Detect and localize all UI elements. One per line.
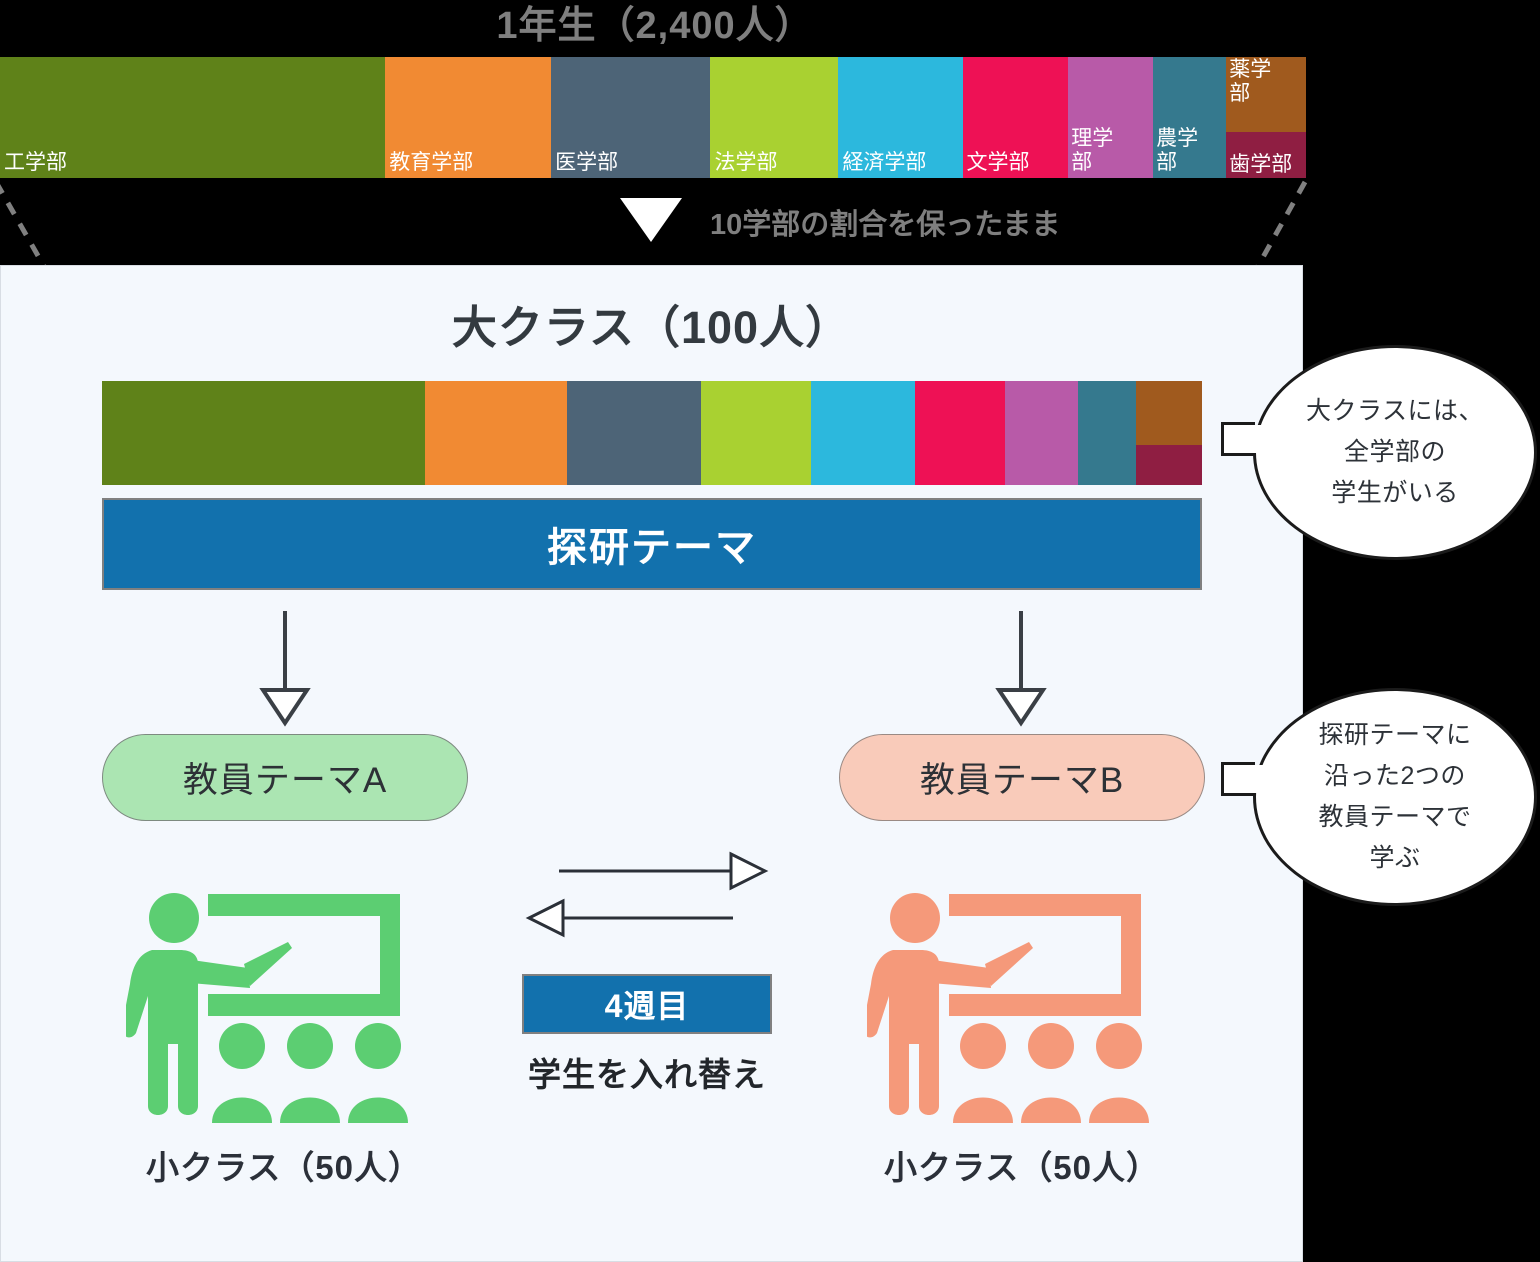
small-class-label-left: 小クラス（50人） — [99, 1141, 469, 1189]
faculty-segment-4: 法学部 — [710, 57, 838, 178]
small-class-label-right: 小クラス（50人） — [837, 1141, 1207, 1189]
mini-faculty-segment-dent — [1136, 445, 1202, 485]
callout-tail-1 — [1221, 422, 1255, 456]
week-badge: 4週目 — [522, 974, 772, 1034]
mini-faculty-segment-5 — [811, 381, 914, 485]
faculty-segment-dent: 歯学部 — [1226, 132, 1306, 178]
student-swap-arrows — [521, 846, 771, 946]
teacher-theme-a-pill[interactable]: 教員テーマA — [102, 734, 468, 821]
callout1-line1: 大クラスには、 — [1306, 391, 1484, 432]
top-title: 1年生（2,400人） — [0, 2, 1310, 50]
callout2-line2: 沿った2つの — [1318, 756, 1471, 797]
teacher-theme-b-label: 教員テーマB — [920, 752, 1124, 803]
mini-faculty-segment-1 — [102, 381, 425, 485]
faculty-segment-label: 薬学部 — [1229, 58, 1279, 106]
faculty-segment-label: 法学部 — [714, 151, 777, 175]
faculty-segment-label: 文学部 — [967, 151, 1030, 175]
diagram-canvas: 1年生（2,400人） 工学部教育学部医学部法学部経済学部文学部理学部農学部薬学… — [0, 0, 1540, 1262]
faculty-distribution-bar-full: 工学部教育学部医学部法学部経済学部文学部理学部農学部薬学部歯学部 — [0, 57, 1306, 178]
teacher-theme-b-pill[interactable]: 教員テーマB — [839, 734, 1205, 821]
callout-all-faculties-text: 大クラスには、 全学部の 学生がいる — [1306, 391, 1484, 514]
swap-students-label: 学生を入れ替え — [501, 1048, 793, 1096]
callout-all-faculties: 大クラスには、 全学部の 学生がいる — [1253, 345, 1537, 560]
faculty-segment-label: 教育学部 — [389, 151, 473, 175]
faculty-segment-label: 歯学部 — [1229, 153, 1292, 177]
panel-title: 大クラス（100人） — [1, 291, 1302, 356]
callout1-line3: 学生がいる — [1306, 473, 1484, 514]
faculty-segment-label: 医学部 — [555, 151, 618, 175]
faculty-segment-label: 経済学部 — [842, 151, 926, 175]
faculty-segment-8: 農学部 — [1153, 57, 1226, 178]
faculty-segment-2: 教育学部 — [385, 57, 551, 178]
faculty-segment-pharm: 薬学部 — [1226, 57, 1306, 132]
mini-faculty-segment-7 — [1005, 381, 1078, 485]
callout-tail-mask-1 — [1253, 425, 1269, 453]
keep-ratio-note: 10学部の割合を保ったまま — [710, 205, 1060, 245]
faculty-segment-5: 経済学部 — [838, 57, 962, 178]
faculty-segment-7: 理学部 — [1068, 57, 1153, 178]
callout2-line3: 教員テーマで — [1318, 797, 1471, 838]
callout2-line1: 探研テーマに — [1318, 715, 1471, 756]
faculty-segment-label: 工学部 — [4, 151, 67, 175]
big-class-panel: 大クラス（100人） 探研テーマ 教員テーマA 教員テーマB — [0, 265, 1303, 1262]
mini-faculty-segment-6 — [915, 381, 1005, 485]
research-theme-label: 探研テーマ — [547, 515, 757, 573]
mini-faculty-segment-8 — [1078, 381, 1136, 485]
mini-faculty-segment-pharm — [1136, 381, 1202, 445]
classroom-icon-right — [867, 876, 1187, 1126]
faculty-segment-3: 医学部 — [551, 57, 710, 178]
down-triangle-icon — [620, 198, 682, 242]
callout-tail-mask-2 — [1253, 765, 1269, 793]
research-theme-bar[interactable]: 探研テーマ — [102, 498, 1202, 590]
faculty-segment-6: 文学部 — [963, 57, 1069, 178]
mini-faculty-segment-4 — [701, 381, 811, 485]
callout-two-teacher-themes: 探研テーマに 沿った2つの 教員テーマで 学ぶ — [1253, 688, 1537, 906]
mini-faculty-segment-3 — [567, 381, 701, 485]
faculty-segment-label: 農学部 — [1156, 127, 1202, 175]
mini-faculty-segment-2 — [425, 381, 567, 485]
mini-faculty-segment-stacked — [1136, 381, 1202, 485]
callout-two-teacher-themes-text: 探研テーマに 沿った2つの 教員テーマで 学ぶ — [1318, 715, 1471, 879]
callout2-line4: 学ぶ — [1318, 838, 1471, 879]
faculty-segment-label: 理学部 — [1071, 127, 1117, 175]
faculty-segment-1: 工学部 — [0, 57, 385, 178]
teacher-theme-a-label: 教員テーマA — [183, 752, 387, 803]
classroom-icon-left — [126, 876, 446, 1126]
callout1-line2: 全学部の — [1306, 432, 1484, 473]
callout-tail-2 — [1221, 762, 1255, 796]
week-badge-label: 4週目 — [605, 981, 690, 1027]
faculty-segment-stacked: 薬学部歯学部 — [1226, 57, 1306, 178]
faculty-distribution-bar-mini — [102, 381, 1202, 485]
